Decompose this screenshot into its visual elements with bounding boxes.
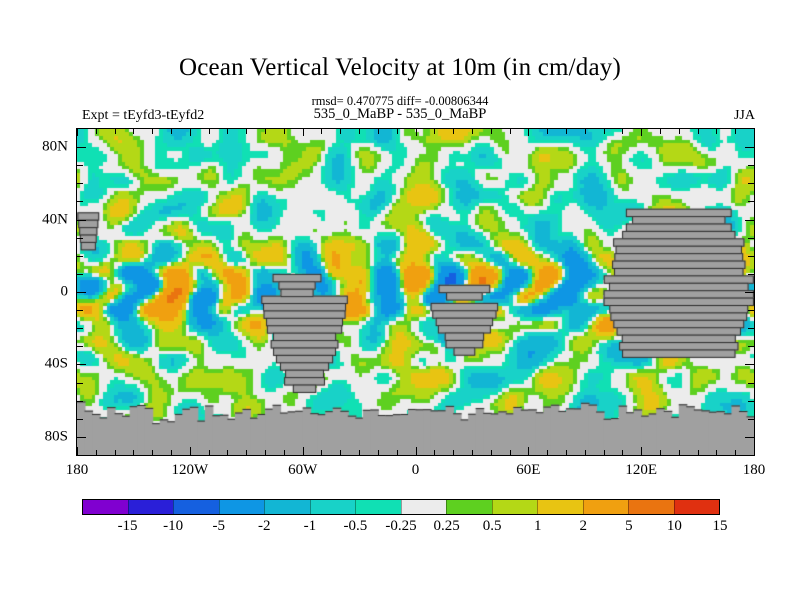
colorbar-segment [628,500,674,514]
x-minor-tick [227,450,228,455]
y-minor-tick [77,238,83,239]
y-major-tick-right [745,437,754,438]
y-minor-tick [77,165,83,166]
x-axis-tick-label: 120E [625,462,657,479]
x-minor-tick-top [378,129,379,134]
x-minor-tick-top [510,129,511,134]
x-minor-tick-top [585,129,586,134]
colorbar-segment [446,500,492,514]
x-minor-tick [472,450,473,455]
colorbar-segment [83,500,128,514]
y-major-tick [77,292,86,293]
y-minor-tick-right [748,401,754,402]
y-major-tick [77,220,86,221]
y-minor-tick-right [748,346,754,347]
x-axis-tick-label: 60W [288,462,317,479]
x-major-tick [528,447,529,455]
y-axis-tick-label: 80N [28,139,68,156]
x-minor-tick [566,450,567,455]
colorbar-tick-label: -2 [258,518,271,535]
x-axis-tick-label: 180 [66,462,89,479]
colorbar-tick-label: 15 [713,518,728,535]
x-minor-tick-top [604,129,605,134]
x-minor-tick [246,450,247,455]
y-minor-tick [77,346,83,347]
colorbar-segment [401,500,447,514]
y-minor-tick-right [748,201,754,202]
x-minor-tick-top [227,129,228,134]
x-major-tick [754,447,755,455]
colorbar-tick-label: -10 [163,518,183,535]
x-major-tick-top [190,129,191,136]
colorbar-tick-label: -15 [118,518,138,535]
colorbar-tick-label: 1 [534,518,542,535]
colorbar-tick-label: -0.25 [385,518,416,535]
x-axis-tick-label: 120W [171,462,208,479]
x-minor-tick-top [660,129,661,134]
x-minor-tick-top [246,129,247,134]
y-major-tick-right [745,220,754,221]
x-minor-tick-top [547,129,548,134]
x-major-tick [416,447,417,455]
x-major-tick-top [77,129,78,136]
x-minor-tick-top [566,129,567,134]
x-minor-tick-top [152,129,153,134]
x-minor-tick-top [434,129,435,134]
x-major-tick-top [641,129,642,136]
x-axis-tick-label: 180 [743,462,766,479]
colorbar-segment [128,500,174,514]
y-minor-tick-right [748,310,754,311]
x-minor-tick-top [735,129,736,134]
x-minor-tick [96,450,97,455]
colorbar-tick-label: -5 [212,518,225,535]
x-minor-tick-top [472,129,473,134]
x-major-tick-top [754,129,755,136]
colorbar-tick-label: -0.5 [344,518,368,535]
x-major-tick-top [416,129,417,136]
season-label: JJA [734,108,755,124]
y-minor-tick [77,419,83,420]
x-minor-tick [622,450,623,455]
x-minor-tick [340,450,341,455]
colorbar-tick-label: 0.25 [433,518,459,535]
colorbar-tick-label: 0.5 [483,518,502,535]
x-minor-tick [133,450,134,455]
x-major-tick [190,447,191,455]
colorbar-segment [173,500,219,514]
colorbar-segment [537,500,583,514]
x-minor-tick-top [265,129,266,134]
x-minor-tick [604,450,605,455]
x-major-tick-top [303,129,304,136]
colorbar-segment [583,500,629,514]
y-minor-tick-right [748,238,754,239]
y-minor-tick [77,328,83,329]
x-minor-tick [434,450,435,455]
y-minor-tick-right [748,256,754,257]
y-minor-tick-right [748,165,754,166]
y-axis-tick-label: 0 [28,284,68,301]
x-major-tick [303,447,304,455]
map-plot-area [76,128,755,456]
x-minor-tick-top [96,129,97,134]
x-minor-tick [265,450,266,455]
x-minor-tick [585,450,586,455]
y-minor-tick-right [748,419,754,420]
x-minor-tick [378,450,379,455]
x-minor-tick-top [209,129,210,134]
colorbar-segment [219,500,265,514]
y-axis-tick-label: 40S [28,356,68,373]
x-minor-tick [359,450,360,455]
y-minor-tick [77,401,83,402]
x-axis-tick-label: 0 [412,462,420,479]
x-minor-tick-top [491,129,492,134]
colorbar-segment [264,500,310,514]
x-major-tick [77,447,78,455]
colorbar-segment [310,500,356,514]
y-minor-tick [77,256,83,257]
y-major-tick [77,364,86,365]
x-minor-tick-top [716,129,717,134]
colorbar-segment [355,500,401,514]
x-minor-tick-top [115,129,116,134]
x-minor-tick [115,450,116,455]
x-minor-tick-top [453,129,454,134]
y-axis-tick-label: 80S [28,428,68,445]
x-minor-tick [209,450,210,455]
x-minor-tick [397,450,398,455]
y-minor-tick-right [748,274,754,275]
colorbar-tick-label: 5 [625,518,633,535]
colorbar-segment [674,500,720,514]
x-minor-tick [735,450,736,455]
colorbar-tick-label: -1 [304,518,317,535]
colorbar-tick-label: 2 [580,518,588,535]
colorbar [82,499,720,515]
x-minor-tick [510,450,511,455]
y-minor-tick-right [748,383,754,384]
x-axis-tick-label: 60E [516,462,540,479]
colorbar-tick-label: 10 [667,518,682,535]
x-minor-tick [660,450,661,455]
x-minor-tick-top [321,129,322,134]
y-minor-tick [77,274,83,275]
y-major-tick-right [745,147,754,148]
x-minor-tick [698,450,699,455]
x-major-tick-top [528,129,529,136]
colorbar-labels: -15-10-5-2-1-0.5-0.250.250.51251015 [0,518,800,540]
y-minor-tick [77,201,83,202]
run-id-label: 535_0_MaBP - 535_0_MaBP [0,106,800,123]
y-minor-tick [77,183,83,184]
x-minor-tick-top [698,129,699,134]
x-minor-tick [321,450,322,455]
x-minor-tick [152,450,153,455]
x-minor-tick-top [133,129,134,134]
x-minor-tick [171,450,172,455]
y-major-tick-right [745,364,754,365]
y-minor-tick-right [748,328,754,329]
x-minor-tick-top [622,129,623,134]
x-minor-tick-top [679,129,680,134]
x-minor-tick-top [284,129,285,134]
colorbar-segment [492,500,538,514]
y-minor-tick-right [748,183,754,184]
x-major-tick [641,447,642,455]
x-minor-tick [491,450,492,455]
x-minor-tick [547,450,548,455]
x-minor-tick [284,450,285,455]
y-major-tick [77,437,86,438]
x-minor-tick-top [397,129,398,134]
y-minor-tick [77,383,83,384]
y-minor-tick [77,310,83,311]
x-minor-tick-top [171,129,172,134]
y-major-tick-right [745,292,754,293]
x-minor-tick [453,450,454,455]
x-minor-tick-top [359,129,360,134]
page-title: Ocean Vertical Velocity at 10m (in cm/da… [0,54,800,82]
x-minor-tick [679,450,680,455]
vertical-velocity-heatmap [77,129,754,455]
y-major-tick [77,147,86,148]
y-axis-tick-label: 40N [28,211,68,228]
x-minor-tick-top [340,129,341,134]
x-minor-tick [716,450,717,455]
